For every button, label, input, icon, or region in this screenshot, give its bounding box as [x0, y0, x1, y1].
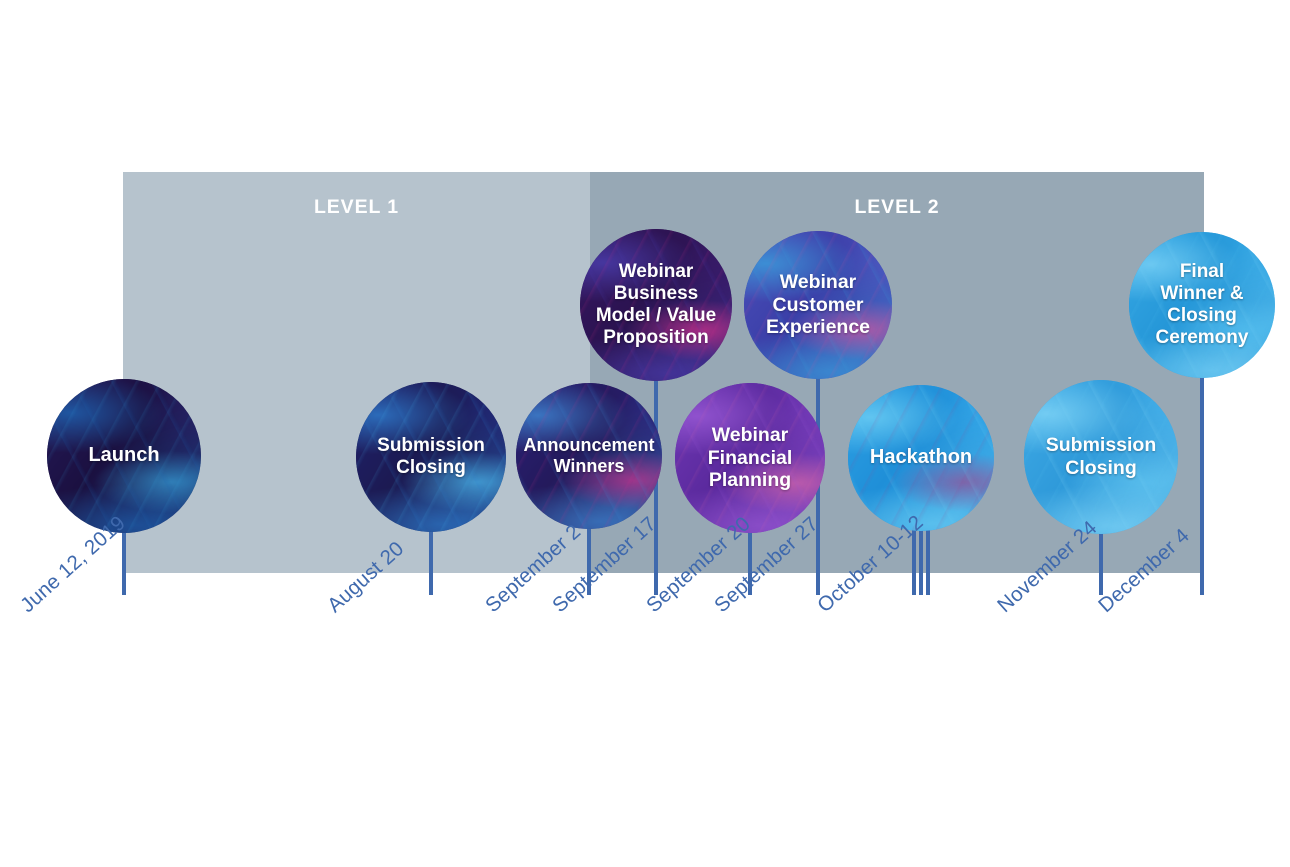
tick-september-27: [816, 573, 820, 595]
milestone-label-final-winner-closing-ceremony: Final Winner & Closing Ceremony: [1150, 261, 1255, 350]
milestone-label-webinar-customer-experience: Webinar Customer Experience: [760, 271, 876, 339]
milestone-label-announcement-winners: Announcement Winners: [517, 435, 660, 477]
milestone-node-webinar-customer-experience[interactable]: Webinar Customer Experience: [744, 231, 892, 379]
milestone-node-webinar-business-model-value-proposition[interactable]: Webinar Business Model / Value Propositi…: [580, 229, 732, 381]
milestone-label-submission-closing-2: Submission Closing: [1040, 434, 1163, 480]
tick-december-4: [1200, 573, 1204, 595]
milestone-node-announcement-winners[interactable]: Announcement Winners: [516, 383, 662, 529]
milestone-node-launch[interactable]: Launch: [47, 379, 201, 533]
milestone-label-webinar-business-model-value-proposition: Webinar Business Model / Value Propositi…: [590, 261, 722, 350]
milestone-node-hackathon[interactable]: Hackathon: [848, 385, 994, 531]
milestone-node-webinar-financial-planning[interactable]: Webinar Financial Planning: [675, 383, 825, 533]
milestone-node-final-winner-closing-ceremony[interactable]: Final Winner & Closing Ceremony: [1129, 232, 1275, 378]
tick-october-12: [926, 573, 930, 595]
tick-october-10: [912, 573, 916, 595]
milestone-label-submission-closing-1: Submission Closing: [371, 435, 491, 479]
tick-august-20: [429, 573, 433, 595]
tick-june-12: [122, 573, 126, 595]
level-band-label-level-2: LEVEL 2: [590, 196, 1204, 219]
milestone-label-hackathon: Hackathon: [864, 446, 978, 469]
level-band-label-level-1: LEVEL 1: [123, 196, 590, 219]
milestone-label-webinar-financial-planning: Webinar Financial Planning: [702, 424, 799, 492]
milestone-node-submission-closing-1[interactable]: Submission Closing: [356, 382, 506, 532]
milestone-node-submission-closing-2[interactable]: Submission Closing: [1024, 380, 1178, 534]
milestone-label-launch: Launch: [82, 444, 165, 467]
tick-october-11: [919, 573, 923, 595]
timeline-infographic: LEVEL 1 LEVEL 2 LaunchSubmission Closing…: [0, 0, 1290, 867]
